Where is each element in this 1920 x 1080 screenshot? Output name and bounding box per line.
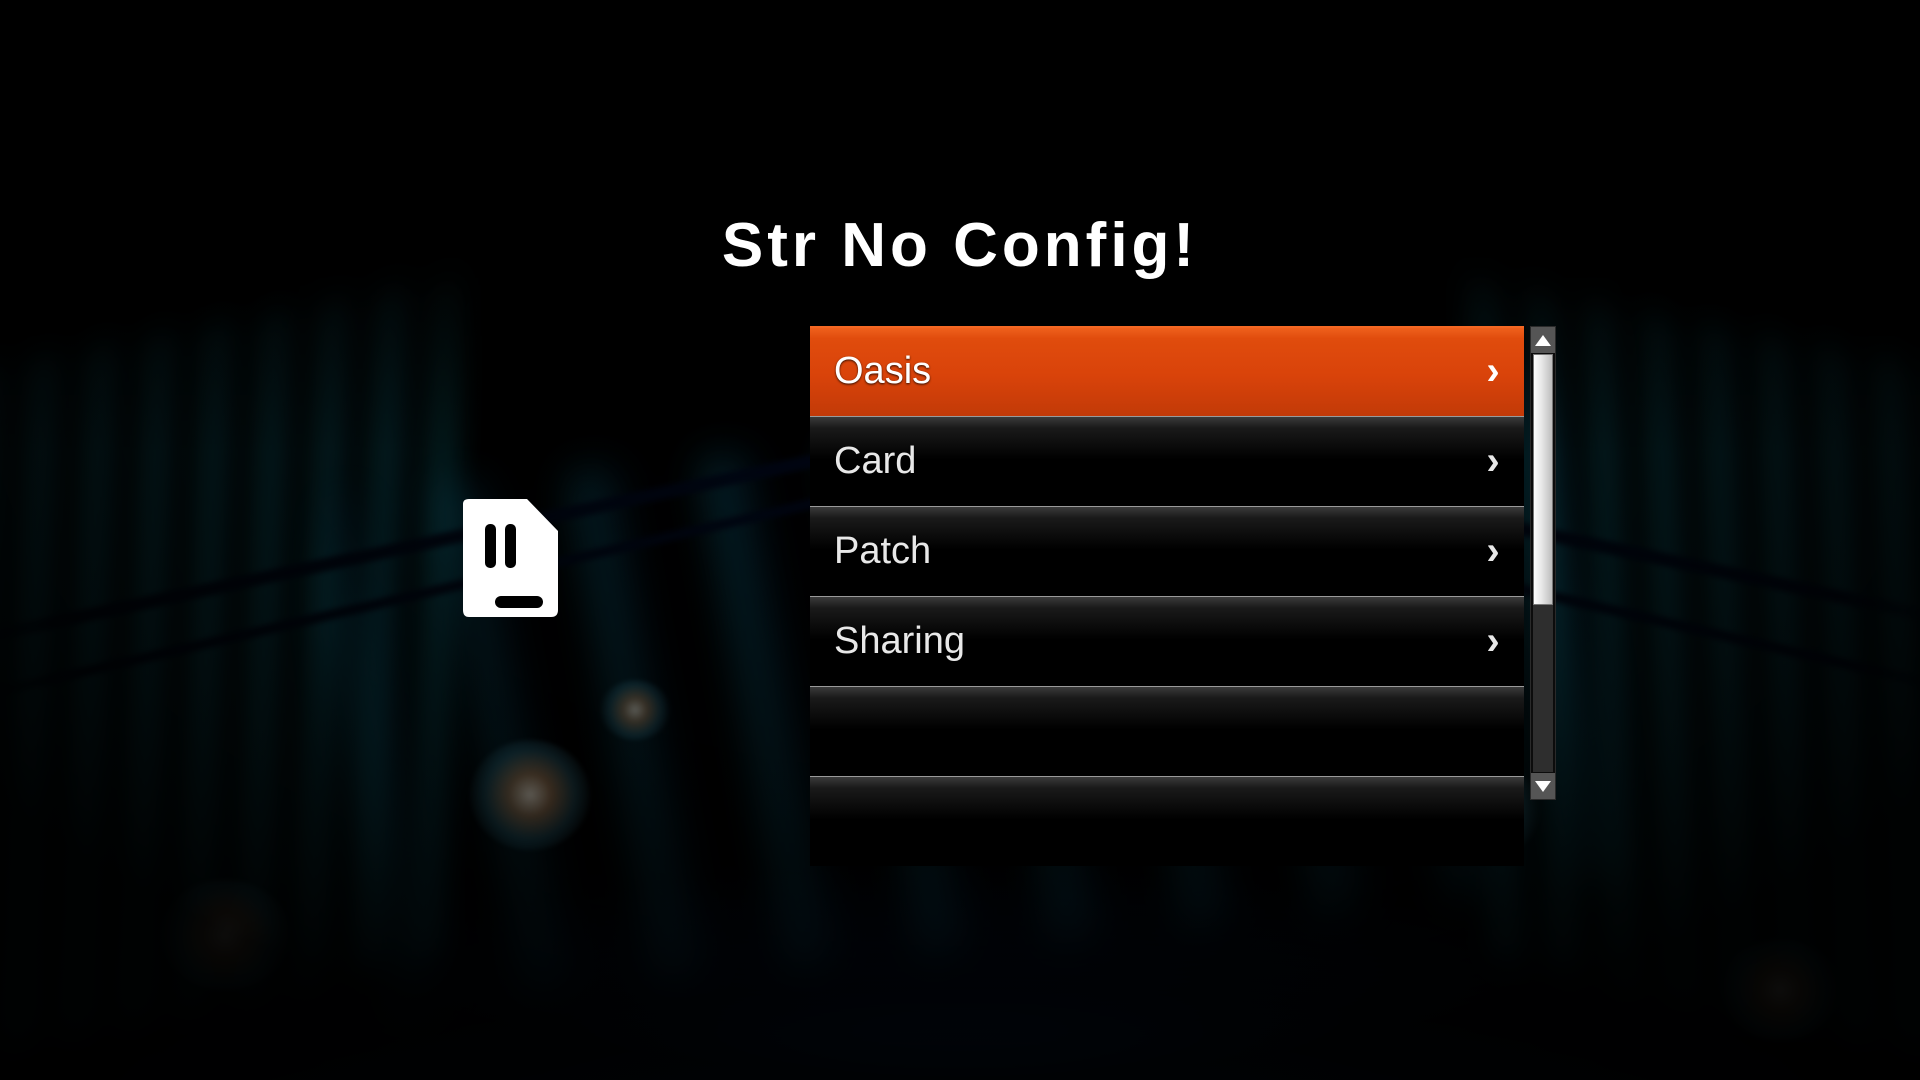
menu-item-label: Sharing (834, 620, 1480, 663)
wallpaper-glint (600, 680, 670, 740)
wallpaper-glint (160, 880, 290, 990)
menu-row-empty (810, 776, 1524, 866)
menu-item-patch[interactable]: Patch› (810, 506, 1524, 596)
menu-item-sharing[interactable]: Sharing› (810, 596, 1524, 686)
menu-list[interactable]: Oasis›Card›Patch›Sharing› (810, 326, 1524, 866)
chevron-right-icon (1480, 712, 1506, 752)
scroll-up-button[interactable] (1531, 327, 1555, 353)
scrollbar-thumb[interactable] (1533, 354, 1553, 605)
screen: Str No Config! Oasis›Card›Patch›Sharing› (0, 0, 1920, 1080)
chevron-right-icon: › (1480, 442, 1506, 482)
chevron-right-icon: › (1480, 532, 1506, 572)
triangle-up-icon (1535, 335, 1551, 346)
menu-item-label: Oasis (834, 350, 1480, 393)
menu-item-label: Card (834, 440, 1480, 483)
page-title: Str No Config! (0, 210, 1920, 281)
menu-item-label: Patch (834, 530, 1480, 573)
menu-item-card[interactable]: Card› (810, 416, 1524, 506)
menu-row-empty (810, 686, 1524, 776)
chevron-right-icon: › (1480, 622, 1506, 662)
triangle-down-icon (1535, 781, 1551, 792)
menu-scrollbar[interactable] (1530, 326, 1556, 800)
chevron-right-icon: › (1480, 351, 1506, 391)
chevron-right-icon (1480, 802, 1506, 842)
scroll-down-button[interactable] (1531, 773, 1555, 799)
wallpaper-glint (1720, 940, 1840, 1040)
wallpaper-glint (470, 740, 590, 850)
sd-card-icon (455, 498, 559, 618)
menu-item-oasis[interactable]: Oasis› (810, 326, 1524, 416)
scrollbar-track[interactable] (1533, 354, 1553, 772)
